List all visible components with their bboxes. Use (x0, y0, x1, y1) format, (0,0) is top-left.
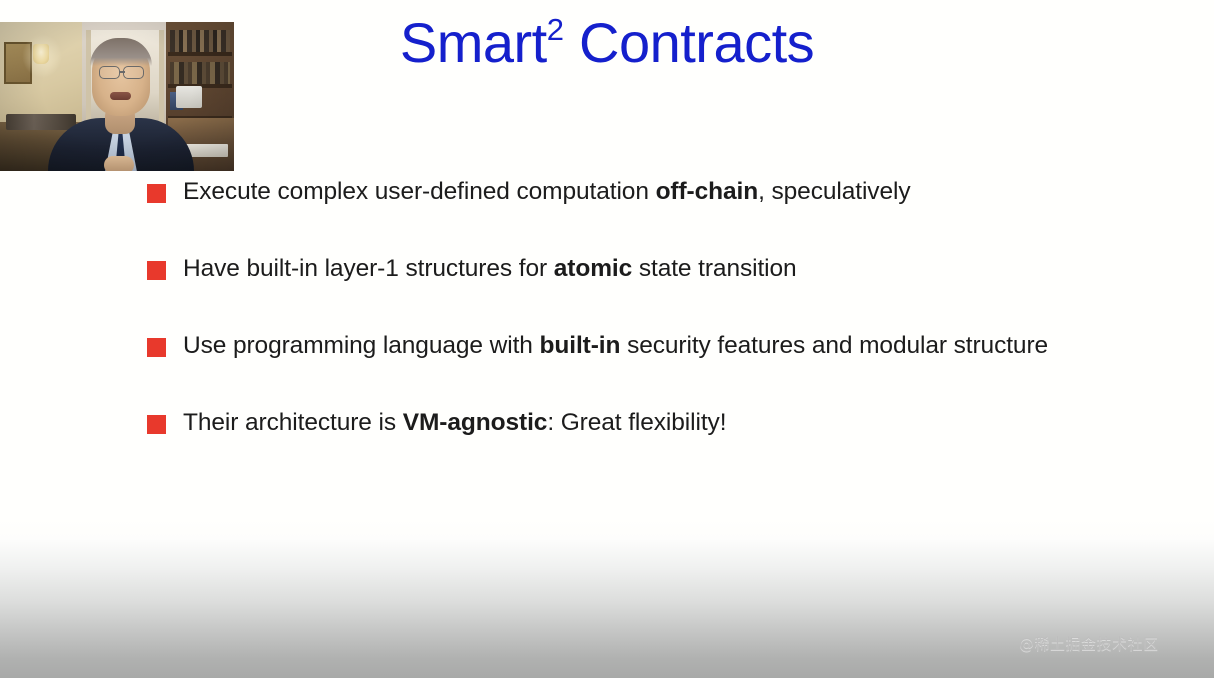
bullet-text: Their architecture is VM-agnostic: Great… (183, 407, 1167, 439)
red-square-bullet-icon (147, 338, 166, 357)
bullet-item: Have built-in layer-1 structures for ato… (147, 253, 1167, 330)
bullet-text: Execute complex user-defined computation… (183, 176, 1167, 208)
slide-bullet-list: Execute complex user-defined computation… (147, 176, 1167, 484)
bullet-text: Use programming language with built-in s… (183, 330, 1167, 362)
red-square-bullet-icon (147, 261, 166, 280)
slide-title-superscript: 2 (547, 12, 564, 47)
bullet-text: Have built-in layer-1 structures for ato… (183, 253, 1167, 285)
red-square-bullet-icon (147, 415, 166, 434)
bullet-item: Their architecture is VM-agnostic: Great… (147, 407, 1167, 484)
webcam-vignette (0, 22, 234, 171)
presenter-video-overlay[interactable] (0, 22, 234, 171)
slide-bottom-gradient (0, 520, 1214, 678)
slide-title-rest: Contracts (564, 11, 814, 74)
watermark: @稀土掘金技术社区 (1019, 633, 1159, 654)
presentation-slide: Smart2 Contracts Execute complex user-de… (0, 0, 1214, 678)
slide-title-main: Smart (400, 11, 547, 74)
red-square-bullet-icon (147, 184, 166, 203)
bullet-item: Execute complex user-defined computation… (147, 176, 1167, 253)
bullet-item: Use programming language with built-in s… (147, 330, 1167, 407)
